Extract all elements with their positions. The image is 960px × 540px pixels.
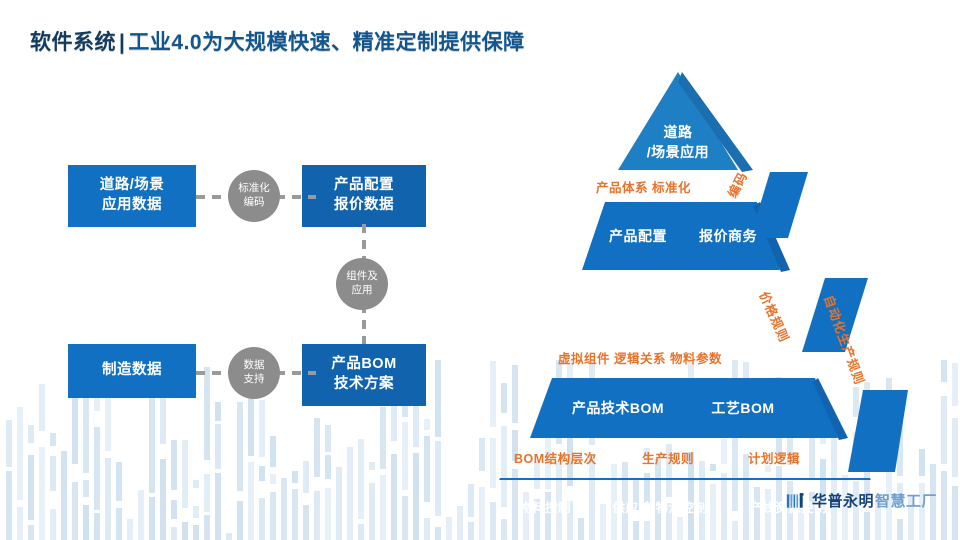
pyramid-gap-label-1: 产品体系 标准化	[596, 177, 691, 196]
page-title-part1: 软件系统	[30, 31, 116, 54]
flow-box-line2: 报价数据	[334, 196, 394, 216]
connector-badge-data-support[interactable]: 数据 支持	[228, 347, 280, 399]
connector-badge-line2: 应用	[346, 284, 378, 298]
side-chip-3-shape	[848, 390, 908, 472]
connector-badge-standardization-coding[interactable]: 标准化 编码	[228, 170, 280, 222]
connector-badge-line2: 支持	[244, 373, 265, 387]
pyramid-level-1-label-line1: 道路	[628, 122, 728, 142]
flow-box-line1: 制造数据	[102, 361, 162, 381]
flow-box-product-config-quote-data[interactable]: 产品配置 报价数据	[302, 165, 426, 227]
pyramid-diagram: 道路 /场景应用 产品配置 报价商务 产品技术BOM 工艺BOM 物料控制 供应…	[470, 60, 940, 480]
pyramid-level-2-label-2: 报价商务	[688, 226, 768, 246]
page-title-divider: |	[116, 31, 128, 54]
logo-name-primary: 华普永明	[812, 490, 874, 511]
connector-badge-line1: 标准化	[238, 182, 270, 196]
flow-box-line1: 道路/场景	[100, 176, 165, 196]
pyramid-level-3-label-2: 工艺BOM	[698, 398, 788, 418]
flow-box-line1: 产品BOM	[331, 355, 396, 375]
brand-logo: 华普永明 智慧工厂	[786, 490, 937, 511]
pyramid-level-4-label-2: 供应链 物流控制	[590, 497, 730, 516]
connector-badge-component-and-application[interactable]: 组件及 应用	[336, 258, 388, 310]
flow-box-line2: 技术方案	[331, 375, 396, 395]
slide-canvas: 软件系统|工业4.0为大规模快速、精准定制提供保障 道路/场景 应用数据 产品配…	[0, 0, 960, 540]
pyramid-gap-label-2: 虚拟组件 逻辑关系 物料参数	[558, 348, 722, 367]
connector-badge-line1: 数据	[244, 359, 265, 373]
pyramid-level-4-label-1: 物料控制	[500, 497, 590, 516]
pyramid-level-1-label-line2: /场景应用	[618, 142, 738, 162]
flow-box-manufacturing-data[interactable]: 制造数据	[68, 344, 196, 398]
connector-badge-line1: 组件及	[346, 270, 378, 284]
flow-box-line1: 产品配置	[334, 176, 394, 196]
pyramid-level-3-label-1: 产品技术BOM	[558, 398, 678, 418]
pyramid-level-2-label-1: 产品配置	[598, 226, 678, 246]
pyramid-gap-label-3a: BOM结构层次	[514, 448, 597, 467]
hpym-logo-icon	[786, 491, 806, 511]
flow-box-product-bom-tech-plan[interactable]: 产品BOM 技术方案	[302, 344, 426, 406]
pyramid-gap-label-3b: 生产规则	[642, 448, 694, 467]
pyramid-gap-label-3c: 计划逻辑	[748, 448, 800, 467]
connector-badge-line2: 编码	[238, 196, 270, 210]
page-title-part2: 工业4.0为大规模快速、精准定制提供保障	[128, 31, 524, 54]
flow-box-road-scene-data[interactable]: 道路/场景 应用数据	[68, 165, 196, 227]
flow-box-line2: 应用数据	[100, 196, 165, 216]
page-title: 软件系统|工业4.0为大规模快速、精准定制提供保障	[30, 26, 525, 56]
pyramid-level-4-shape[interactable]	[476, 478, 895, 480]
logo-name-secondary: 智慧工厂	[875, 490, 937, 511]
